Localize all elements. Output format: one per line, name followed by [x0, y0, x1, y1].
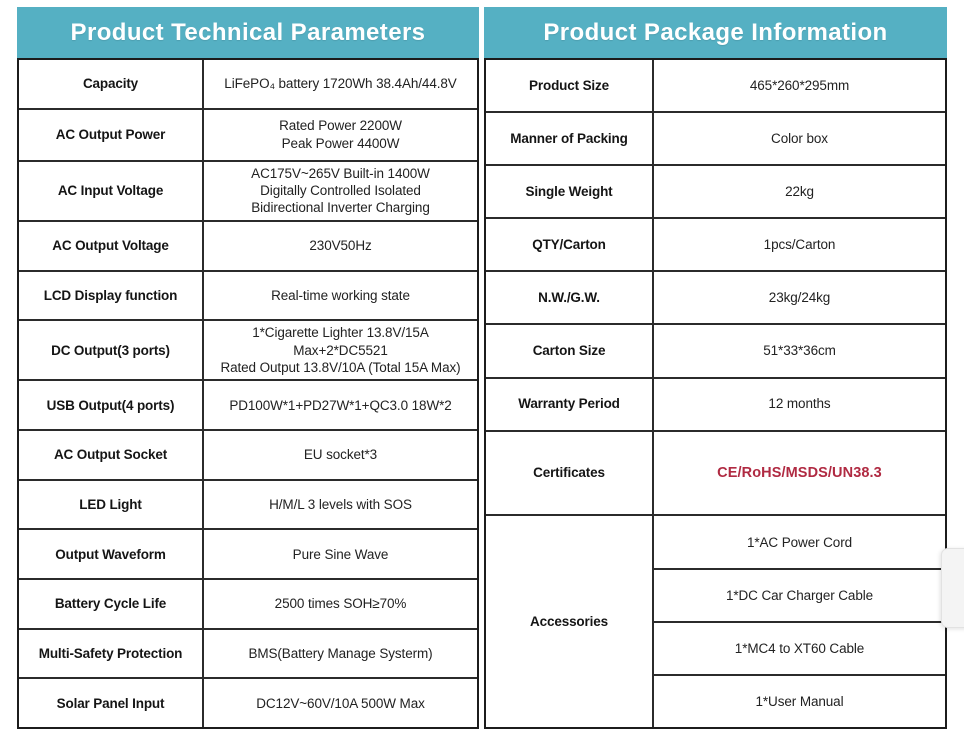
row-label: N.W./G.W.: [486, 272, 654, 323]
cell-value-line: Max+2*DC5521: [220, 342, 460, 359]
table-row: AC Output Voltage230V50Hz: [19, 222, 477, 272]
cell-value-text: EU socket*3: [304, 446, 377, 463]
row-label: LCD Display function: [19, 272, 204, 320]
table-row: CapacityLiFePO₄ battery 1720Wh 38.4Ah/44…: [19, 60, 477, 110]
cell-value-line: Digitally Controlled Isolated: [251, 182, 430, 199]
table-row: N.W./G.W.23kg/24kg: [486, 272, 945, 325]
cell-value-line: Rated Power 2200W: [279, 117, 402, 134]
table-row: LCD Display functionReal-time working st…: [19, 272, 477, 322]
cell-value-line: 230V50Hz: [309, 237, 371, 254]
cell-value-text: 22kg: [785, 183, 814, 200]
row-label: LED Light: [19, 481, 204, 529]
row-value: 1*Cigarette Lighter 13.8V/15AMax+2*DC552…: [204, 321, 477, 379]
row-label: Output Waveform: [19, 530, 204, 578]
cell-value-text: 1*Cigarette Lighter 13.8V/15AMax+2*DC552…: [220, 324, 460, 376]
row-value: PD100W*1+PD27W*1+QC3.0 18W*2: [204, 381, 477, 429]
row-label: Carton Size: [486, 325, 654, 376]
row-label: AC Output Voltage: [19, 222, 204, 270]
row-label: Single Weight: [486, 166, 654, 217]
cell-value-line: Bidirectional Inverter Charging: [251, 199, 430, 216]
accessories-list-item: 1*User Manual: [654, 676, 945, 727]
certificates-text: CE/RoHS/MSDS/UN38.3: [717, 464, 882, 483]
row-label: Manner of Packing: [486, 113, 654, 164]
table-row: Carton Size51*33*36cm: [486, 325, 945, 378]
cell-value-line: PD100W*1+PD27W*1+QC3.0 18W*2: [229, 397, 451, 414]
cell-value-line: 23kg/24kg: [769, 289, 830, 306]
row-value: 51*33*36cm: [654, 325, 945, 376]
cell-value-text: AC175V~265V Built-in 1400WDigitally Cont…: [251, 165, 430, 217]
row-label: AC Output Socket: [19, 431, 204, 479]
row-label: AC Input Voltage: [19, 162, 204, 220]
table-row: Solar Panel InputDC12V~60V/10A 500W Max: [19, 679, 477, 727]
row-label: DC Output(3 ports): [19, 321, 204, 379]
row-label: Warranty Period: [486, 379, 654, 430]
row-value: Color box: [654, 113, 945, 164]
cell-value-line: 22kg: [785, 183, 814, 200]
cell-value-line: AC175V~265V Built-in 1400W: [251, 165, 430, 182]
table-row: DC Output(3 ports)1*Cigarette Lighter 13…: [19, 321, 477, 381]
package-information-header: Product Package Information: [484, 7, 947, 58]
cell-value-text: 51*33*36cm: [763, 342, 836, 359]
table-row: QTY/Carton1pcs/Carton: [486, 219, 945, 272]
row-label: Product Size: [486, 60, 654, 111]
technical-parameters-header: Product Technical Parameters: [17, 7, 479, 58]
row-value: 22kg: [654, 166, 945, 217]
cell-value-line: 1*Cigarette Lighter 13.8V/15A: [220, 324, 460, 341]
row-value: Real-time working state: [204, 272, 477, 320]
cell-value-line: 465*260*295mm: [750, 77, 849, 94]
row-label: AC Output Power: [19, 110, 204, 160]
cell-value-text: 12 months: [768, 395, 830, 412]
row-value: BMS(Battery Manage Systerm): [204, 630, 477, 678]
row-label: USB Output(4 ports): [19, 381, 204, 429]
cell-value-line: 12 months: [768, 395, 830, 412]
cell-value-line: LiFePO₄ battery 1720Wh 38.4Ah/44.8V: [224, 75, 456, 92]
accessories-list-item: 1*MC4 to XT60 Cable: [654, 623, 945, 676]
cell-value-line: 51*33*36cm: [763, 342, 836, 359]
row-value: EU socket*3: [204, 431, 477, 479]
row-value: 1pcs/Carton: [654, 219, 945, 270]
cell-value-line: DC12V~60V/10A 500W Max: [256, 695, 425, 712]
accessories-list: 1*AC Power Cord1*DC Car Charger Cable1*M…: [654, 516, 945, 727]
cell-value-text: BMS(Battery Manage Systerm): [248, 645, 432, 662]
cell-value-text: DC12V~60V/10A 500W Max: [256, 695, 425, 712]
table-row: Battery Cycle Life2500 times SOH≥70%: [19, 580, 477, 630]
spec-tables-container: Product Technical Parameters CapacityLiF…: [17, 7, 947, 729]
table-row: Output WaveformPure Sine Wave: [19, 530, 477, 580]
cell-value-line: 1pcs/Carton: [764, 236, 836, 253]
technical-parameters-table: CapacityLiFePO₄ battery 1720Wh 38.4Ah/44…: [17, 58, 479, 729]
row-value-certificates: CE/RoHS/MSDS/UN38.3: [654, 432, 945, 515]
row-value: LiFePO₄ battery 1720Wh 38.4Ah/44.8V: [204, 60, 477, 108]
row-value: DC12V~60V/10A 500W Max: [204, 679, 477, 727]
cell-value-line: BMS(Battery Manage Systerm): [248, 645, 432, 662]
table-row: USB Output(4 ports)PD100W*1+PD27W*1+QC3.…: [19, 381, 477, 431]
cell-value-text: Color box: [771, 130, 828, 147]
table-row: Product Size465*260*295mm: [486, 60, 945, 113]
package-information-table: Product Size465*260*295mmManner of Packi…: [484, 58, 947, 729]
row-value: 230V50Hz: [204, 222, 477, 270]
row-value: 465*260*295mm: [654, 60, 945, 111]
row-value: 23kg/24kg: [654, 272, 945, 323]
cell-value-line: H/M/L 3 levels with SOS: [269, 496, 412, 513]
table-row: Single Weight22kg: [486, 166, 945, 219]
row-label: Solar Panel Input: [19, 679, 204, 727]
cell-value-line: Rated Output 13.8V/10A (Total 15A Max): [220, 359, 460, 376]
cell-value-line: Real-time working state: [271, 287, 410, 304]
cell-value-line: Color box: [771, 130, 828, 147]
cell-value-text: Real-time working state: [271, 287, 410, 304]
package-information-panel: Product Package Information Product Size…: [484, 7, 947, 729]
cell-value-text: 1pcs/Carton: [764, 236, 836, 253]
cell-value-text: 2500 times SOH≥70%: [275, 595, 407, 612]
cell-value-text: H/M/L 3 levels with SOS: [269, 496, 412, 513]
table-row-certificates: CertificatesCE/RoHS/MSDS/UN38.3: [486, 432, 945, 517]
cell-value-text: LiFePO₄ battery 1720Wh 38.4Ah/44.8V: [224, 75, 456, 92]
cell-value-text: Pure Sine Wave: [293, 546, 389, 563]
row-value: Pure Sine Wave: [204, 530, 477, 578]
row-value: H/M/L 3 levels with SOS: [204, 481, 477, 529]
spec-sheet-page: Product Technical Parameters CapacityLiF…: [0, 0, 964, 747]
table-row-accessories: Accessories1*AC Power Cord1*DC Car Charg…: [486, 516, 945, 727]
table-row: Warranty Period12 months: [486, 379, 945, 432]
cell-value-line: Peak Power 4400W: [279, 135, 402, 152]
cell-value-line: Pure Sine Wave: [293, 546, 389, 563]
table-row: Manner of PackingColor box: [486, 113, 945, 166]
row-label: Multi-Safety Protection: [19, 630, 204, 678]
cell-value-text: 465*260*295mm: [750, 77, 849, 94]
row-label: QTY/Carton: [486, 219, 654, 270]
table-row: AC Output PowerRated Power 2200WPeak Pow…: [19, 110, 477, 162]
cell-value-line: EU socket*3: [304, 446, 377, 463]
row-value: 2500 times SOH≥70%: [204, 580, 477, 628]
row-value: Rated Power 2200WPeak Power 4400W: [204, 110, 477, 160]
table-row: AC Input VoltageAC175V~265V Built-in 140…: [19, 162, 477, 222]
row-value: AC175V~265V Built-in 1400WDigitally Cont…: [204, 162, 477, 220]
technical-parameters-panel: Product Technical Parameters CapacityLiF…: [17, 7, 479, 729]
table-row: Multi-Safety ProtectionBMS(Battery Manag…: [19, 630, 477, 680]
cell-value-text: Rated Power 2200WPeak Power 4400W: [279, 117, 402, 152]
menu-lines-icon[interactable]: [941, 548, 964, 628]
row-label: Capacity: [19, 60, 204, 108]
accessories-list-item: 1*AC Power Cord: [654, 516, 945, 569]
cell-value-text: 23kg/24kg: [769, 289, 830, 306]
cell-value-text: 230V50Hz: [309, 237, 371, 254]
table-row: LED LightH/M/L 3 levels with SOS: [19, 481, 477, 531]
table-row: AC Output SocketEU socket*3: [19, 431, 477, 481]
accessories-list-item: 1*DC Car Charger Cable: [654, 570, 945, 623]
cell-value-text: PD100W*1+PD27W*1+QC3.0 18W*2: [229, 397, 451, 414]
row-label-accessories: Accessories: [486, 516, 654, 727]
row-value: 12 months: [654, 379, 945, 430]
cell-value-line: 2500 times SOH≥70%: [275, 595, 407, 612]
row-label-certificates: Certificates: [486, 432, 654, 515]
row-label: Battery Cycle Life: [19, 580, 204, 628]
